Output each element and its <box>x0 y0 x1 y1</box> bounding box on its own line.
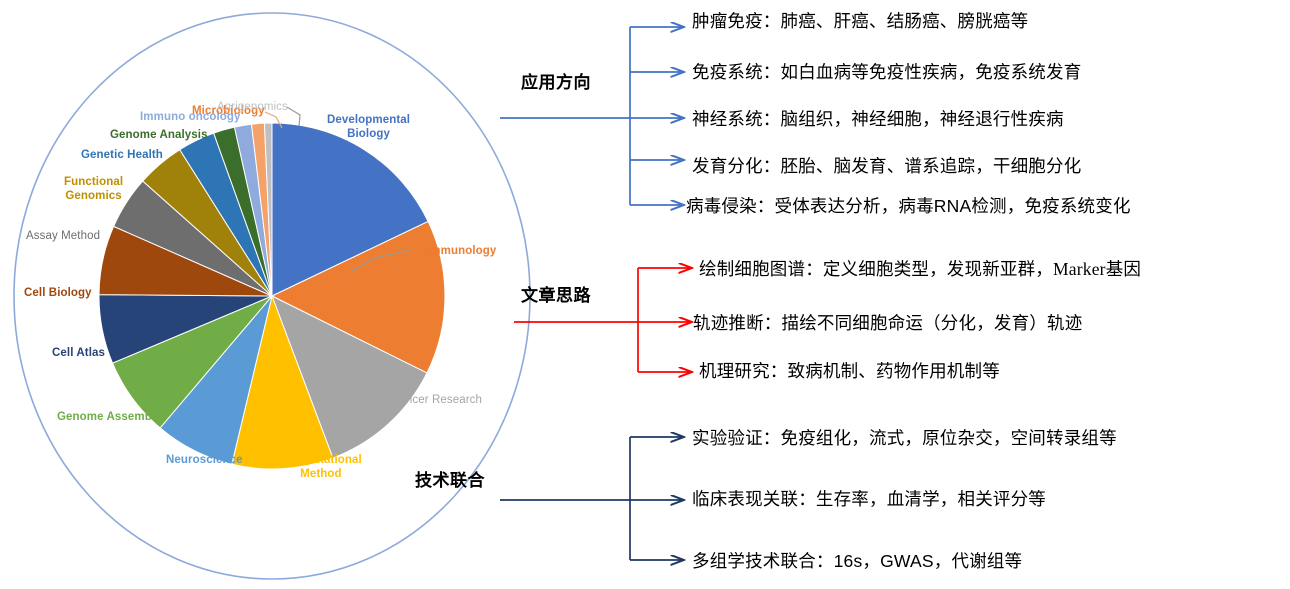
leaf-tech-multiomics-integration: 多组学技术联合：16s，GWAS，代谢组等 <box>692 548 1022 573</box>
leader-line-agrigenomics <box>287 107 300 126</box>
leaf-tech-clinical-correlation: 临床表现关联：生存率，血清学，相关评分等 <box>692 486 1046 511</box>
pie-label-cell-atlas: Cell Atlas <box>52 347 105 361</box>
pie-label-cancer-research: Cancer Research <box>391 394 482 408</box>
pie-label-functional-genomics: Functional Genomics <box>64 176 123 203</box>
pie-label-assay-method: Assay Method <box>26 230 100 244</box>
pie-label-immunology: Immunology <box>427 245 496 259</box>
group-title-application-direction: 应用方向 <box>521 68 591 93</box>
pie-label-agrigenomics: Agrigenomics <box>217 101 288 115</box>
leaf-approach-trajectory-inference: 轨迹推断：描绘不同细胞命运（分化，发育）轨迹 <box>693 310 1082 335</box>
pie-label-developmental-biology: Developmental Biology <box>327 114 410 141</box>
pie-label-cell-biology: Cell Biology <box>24 287 92 301</box>
pie-label-genetic-health: Genetic Health <box>81 149 163 163</box>
group-title-article-approach: 文章思路 <box>521 281 591 306</box>
group-title-technology-integration: 技术联合 <box>415 466 485 491</box>
leaf-app-nervous-system: 神经系统：脑组织，神经细胞，神经退行性疾病 <box>692 106 1064 131</box>
leaf-app-development-differentiation: 发育分化：胚胎、脑发育、谱系追踪，干细胞分化 <box>692 153 1081 178</box>
leaf-approach-cell-atlas-mapping: 绘制细胞图谱：定义细胞类型，发现新亚群，Marker基因 <box>699 256 1141 281</box>
branches-panel: 应用方向 文章思路 技术联合 肿瘤免疫：肺癌、肝癌、结肠癌、膀胱癌等 免疫系统：… <box>500 0 1290 589</box>
pie-label-neuroscience: Neuroscience <box>166 454 243 468</box>
leaf-tech-experimental-validation: 实验验证：免疫组化，流式，原位杂交，空间转录组等 <box>692 425 1117 450</box>
pie-label-genome-analysis: Genome Analysis <box>110 129 208 143</box>
leaf-app-immune-system: 免疫系统：如白血病等免疫性疾病，免疫系统发育 <box>692 59 1081 84</box>
pie-label-genome-assembly: Genome Assembly <box>57 411 162 425</box>
slide-canvas: Developmental Biology Immunology Cancer … <box>0 0 1290 589</box>
pie-label-computational-method: Computational Method <box>280 454 362 481</box>
leaf-app-tumor-immunity: 肿瘤免疫：肺癌、肝癌、结肠癌、膀胱癌等 <box>692 8 1028 33</box>
leaf-approach-mechanism-research: 机理研究：致病机制、药物作用机制等 <box>699 358 1000 383</box>
leaf-app-viral-infection: 病毒侵染：受体表达分析，病毒RNA检测，免疫系统变化 <box>686 193 1131 218</box>
